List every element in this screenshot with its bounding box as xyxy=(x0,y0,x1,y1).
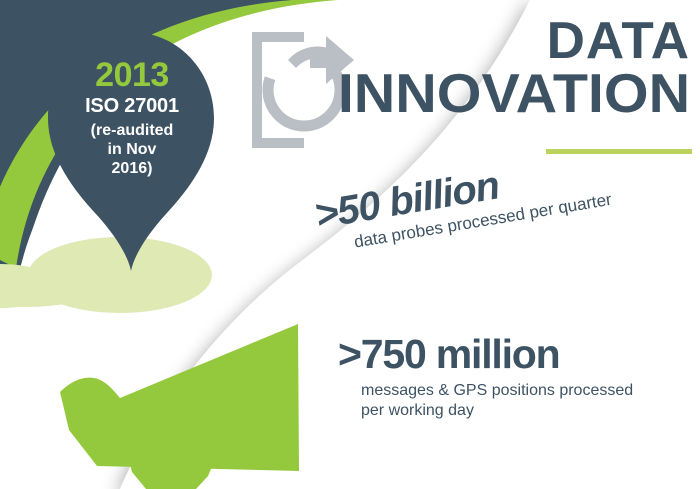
stat-description: messages & GPS positions processed per w… xyxy=(361,381,633,422)
stat-description-line-1: messages & GPS positions processed xyxy=(361,382,633,399)
title-line-data: DATA xyxy=(346,18,690,66)
headline-group: DATA INNOVATION xyxy=(353,18,690,118)
stat-description-line-2: per working day xyxy=(361,402,474,419)
infographic-canvas: DATA INNOVATION 2013 ISO 27001 (re-audit… xyxy=(0,0,700,489)
title-line-innovation: INNOVATION xyxy=(338,68,690,119)
stat-value: >750 million xyxy=(338,334,633,375)
stat-block-messages: >750 million messages & GPS positions pr… xyxy=(338,334,633,422)
